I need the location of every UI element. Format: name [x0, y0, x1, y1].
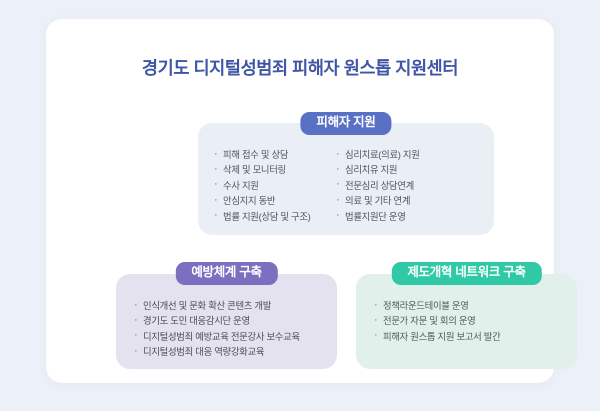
- panel-victim-support-columns: 피해 접수 및 상담 삭제 및 모니터링 수사 지원 안심지지 동반 법률 지원…: [198, 147, 494, 224]
- list-item: 수사 지원: [214, 178, 336, 193]
- page-title: 경기도 디지털성범죄 피해자 원스톱 지원센터: [46, 55, 554, 80]
- panel-victim-support-badge: 피해자 지원: [300, 112, 391, 135]
- panel-prevention-system-badge: 예방체계 구축: [175, 262, 277, 285]
- panel-institutional-network-badge: 제도개혁 네트워크 구축: [391, 262, 541, 285]
- list-item: 정책라운드테이블 운영: [374, 298, 500, 313]
- victim-support-list-left: 피해 접수 및 상담 삭제 및 모니터링 수사 지원 안심지지 동반 법률 지원…: [198, 147, 336, 224]
- list-item: 법률 지원(상담 및 구조): [214, 209, 336, 224]
- list-item: 피해 접수 및 상담: [214, 147, 336, 162]
- prevention-system-list: 인식개선 및 문화 확산 콘텐츠 개발 경기도 도민 대응감시단 운영 디지털성…: [134, 298, 300, 360]
- panel-victim-support: 피해자 지원 피해 접수 및 상담 삭제 및 모니터링 수사 지원 안심지지 동…: [198, 123, 494, 235]
- list-item: 법률지원단 운영: [336, 209, 486, 224]
- list-item: 디지털성범죄 대응 역량강화교육: [134, 344, 300, 359]
- list-item: 전문심리 상담연계: [336, 178, 486, 193]
- infographic-stage: 경기도 디지털성범죄 피해자 원스톱 지원센터 피해자 지원 피해 접수 및 상…: [0, 0, 600, 411]
- panel-institutional-network: 제도개혁 네트워크 구축 정책라운드테이블 운영 전문가 자문 및 회의 운영 …: [356, 274, 577, 369]
- content-card: 경기도 디지털성범죄 피해자 원스톱 지원센터 피해자 지원 피해 접수 및 상…: [46, 19, 554, 383]
- list-item: 의료 및 기타 연계: [336, 193, 486, 208]
- list-item: 피해자 원스톱 지원 보고서 발간: [374, 329, 500, 344]
- list-item: 삭제 및 모니터링: [214, 162, 336, 177]
- list-item: 심리치료(의료) 지원: [336, 147, 486, 162]
- list-item: 인식개선 및 문화 확산 콘텐츠 개발: [134, 298, 300, 313]
- victim-support-list-right: 심리치료(의료) 지원 심리치유 지원 전문심리 상담연계 의료 및 기타 연계…: [336, 147, 486, 224]
- institutional-network-list: 정책라운드테이블 운영 전문가 자문 및 회의 운영 피해자 원스톱 지원 보고…: [374, 298, 500, 344]
- list-item: 경기도 도민 대응감시단 운영: [134, 313, 300, 328]
- list-item: 디지털성범죄 예방교육 전문강사 보수교육: [134, 329, 300, 344]
- list-item: 심리치유 지원: [336, 162, 486, 177]
- list-item: 안심지지 동반: [214, 193, 336, 208]
- list-item: 전문가 자문 및 회의 운영: [374, 313, 500, 328]
- panel-prevention-system: 예방체계 구축 인식개선 및 문화 확산 콘텐츠 개발 경기도 도민 대응감시단…: [116, 274, 337, 369]
